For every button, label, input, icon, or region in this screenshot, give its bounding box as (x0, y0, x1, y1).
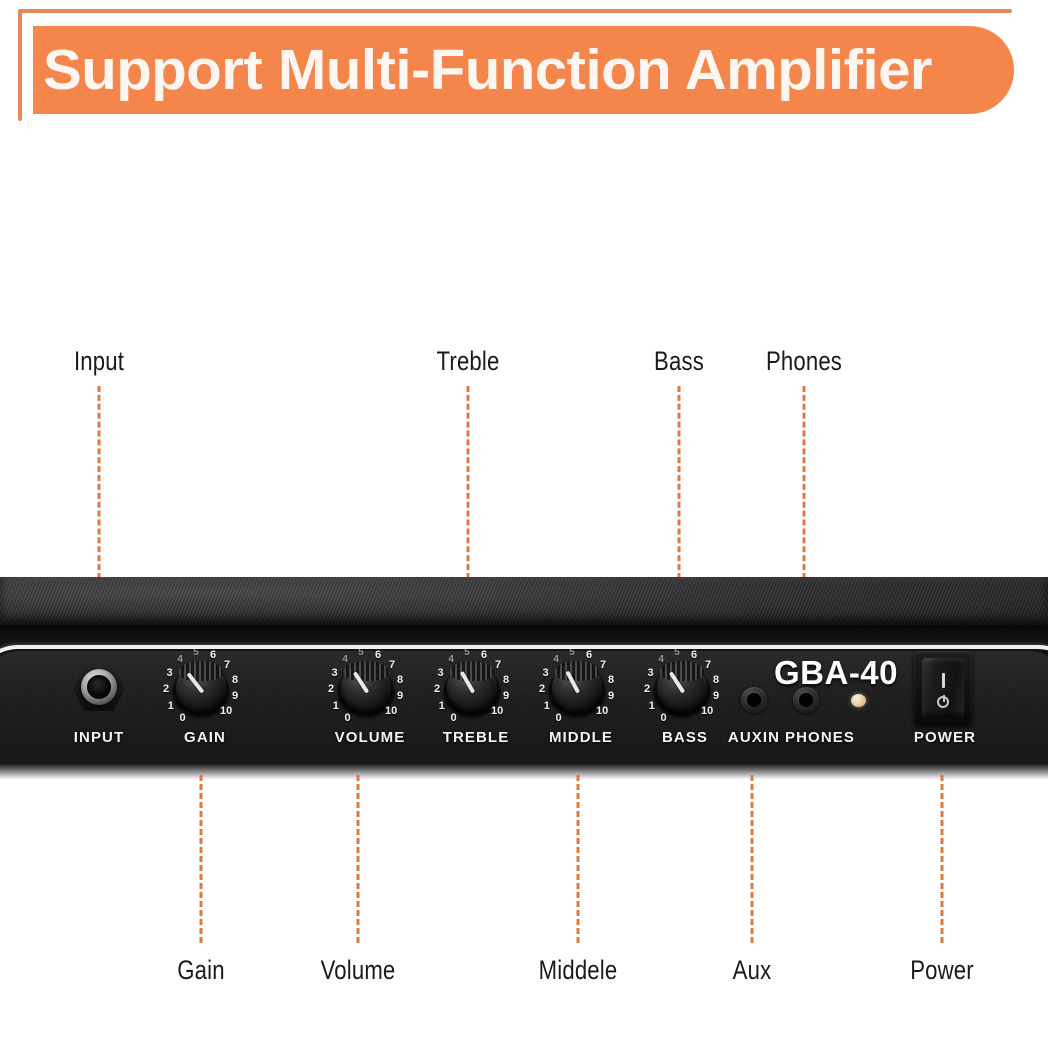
amplifier-unit: 0123456789100123456789100123456789100123… (0, 577, 1048, 781)
knob-tick-10: 10 (491, 706, 503, 717)
knob-tick-4: 4 (342, 655, 348, 665)
knob-tick-2: 2 (328, 684, 334, 695)
callout-bottom-line-middele (577, 775, 580, 943)
knob-tick-10: 10 (596, 706, 608, 717)
knob-tick-10: 10 (220, 706, 232, 717)
knob-volume[interactable]: 012345678910 (320, 657, 412, 735)
knob-tick-5: 5 (358, 648, 364, 658)
power-led-indicator (851, 694, 866, 707)
callout-bottom-label-aux: Aux (733, 955, 772, 986)
knob-tick-4: 4 (448, 655, 454, 665)
knob-tick-4: 4 (658, 655, 664, 665)
knob-tick-1: 1 (439, 701, 445, 712)
knob-tick-9: 9 (713, 691, 719, 702)
knob-tick-8: 8 (397, 675, 403, 686)
knob-tick-2: 2 (434, 684, 440, 695)
knob-tick-9: 9 (608, 691, 614, 702)
knob-treble[interactable]: 012345678910 (426, 657, 518, 735)
knob-tick-5: 5 (674, 648, 680, 658)
knob-tick-6: 6 (691, 650, 697, 661)
knob-tick-4: 4 (177, 655, 183, 665)
knob-tick-1: 1 (168, 701, 174, 712)
knob-tick-3: 3 (648, 668, 654, 679)
knob-ridge (555, 661, 599, 681)
knob-tick-3: 3 (332, 668, 338, 679)
knob-tick-0: 0 (660, 713, 666, 724)
knob-tick-9: 9 (232, 691, 238, 702)
knob-tick-9: 9 (503, 691, 509, 702)
knob-tick-8: 8 (232, 675, 238, 686)
knob-tick-5: 5 (464, 648, 470, 658)
knob-tick-6: 6 (481, 650, 487, 661)
callout-bottom-label-volume: Volume (321, 955, 396, 986)
panel-label-volume: VOLUME (335, 729, 406, 746)
knob-ridge (660, 661, 704, 681)
knob-tick-4: 4 (553, 655, 559, 665)
panel-label-middle: MIDDLE (549, 729, 613, 746)
knob-tick-3: 3 (438, 668, 444, 679)
callout-bottom-line-gain (200, 775, 203, 943)
panel-label-phones: PHONES (785, 729, 855, 746)
panel-label-input: INPUT (74, 729, 125, 746)
knob-tick-1: 1 (649, 701, 655, 712)
knob-gain[interactable]: 012345678910 (155, 657, 247, 735)
knob-tick-7: 7 (224, 660, 230, 671)
panel-label-auxin: AUXIN (728, 729, 780, 746)
control-panel: 0123456789100123456789100123456789100123… (0, 639, 1048, 763)
knob-tick-7: 7 (705, 660, 711, 671)
callout-top-label-bass: Bass (654, 346, 704, 377)
callout-top-label-phones: Phones (766, 346, 842, 377)
knob-tick-2: 2 (163, 684, 169, 695)
knob-tick-5: 5 (193, 648, 199, 658)
callout-top-label-treble: Treble (437, 346, 500, 377)
knob-tick-0: 0 (179, 713, 185, 724)
panel-label-treble: TREBLE (443, 729, 510, 746)
callout-bottom-label-gain: Gain (177, 955, 224, 986)
knob-tick-10: 10 (701, 706, 713, 717)
page-title: Support Multi-Function Amplifier (43, 42, 932, 99)
knob-tick-3: 3 (543, 668, 549, 679)
infographic-canvas: Support Multi-Function Amplifier InputTr… (0, 0, 1048, 1048)
power-switch[interactable] (914, 651, 972, 725)
power-on-icon (942, 673, 945, 688)
input-jack-hole (87, 675, 111, 699)
auxin-jack-hole (747, 693, 761, 707)
knob-ridge (179, 661, 223, 681)
panel-label-power: POWER (914, 729, 976, 746)
knob-tick-6: 6 (586, 650, 592, 661)
cabinet-shadow (0, 625, 1048, 639)
panel-label-bass: BASS (662, 729, 708, 746)
banner-rule-top (18, 9, 1012, 13)
knob-tick-8: 8 (608, 675, 614, 686)
knob-tick-0: 0 (555, 713, 561, 724)
knob-tick-0: 0 (450, 713, 456, 724)
input-jack[interactable] (71, 661, 127, 717)
cabinet-tolex-top (0, 577, 1048, 625)
model-badge: GBA-40 (774, 654, 898, 692)
knob-tick-3: 3 (167, 668, 173, 679)
callout-bottom-line-volume (357, 775, 360, 943)
knob-tick-8: 8 (503, 675, 509, 686)
knob-tick-6: 6 (210, 650, 216, 661)
knob-tick-5: 5 (569, 648, 575, 658)
callout-bottom-label-middele: Middele (539, 955, 618, 986)
knob-tick-7: 7 (495, 660, 501, 671)
knob-ridge (450, 661, 494, 681)
knob-ridge (344, 661, 388, 681)
callout-top-label-input: Input (74, 346, 124, 377)
banner-body: Support Multi-Function Amplifier (33, 26, 1014, 114)
knob-tick-6: 6 (375, 650, 381, 661)
callout-bottom-line-power (941, 775, 944, 943)
knob-tick-7: 7 (600, 660, 606, 671)
knob-tick-8: 8 (713, 675, 719, 686)
knob-tick-1: 1 (544, 701, 550, 712)
power-switch-rocker[interactable] (922, 658, 964, 718)
knob-tick-2: 2 (644, 684, 650, 695)
phones-jack-hole (799, 693, 813, 707)
auxin-jack[interactable] (741, 687, 767, 713)
callout-bottom-label-power: Power (910, 955, 974, 986)
knob-tick-9: 9 (397, 691, 403, 702)
knob-tick-1: 1 (333, 701, 339, 712)
knob-bass[interactable]: 012345678910 (636, 657, 728, 735)
panel-label-gain: GAIN (184, 729, 226, 746)
power-off-icon (937, 696, 949, 708)
panel-bottom-shadow (0, 763, 1048, 781)
knob-tick-2: 2 (539, 684, 545, 695)
knob-tick-7: 7 (389, 660, 395, 671)
knob-tick-10: 10 (385, 706, 397, 717)
knob-tick-0: 0 (344, 713, 350, 724)
knob-middle[interactable]: 012345678910 (531, 657, 623, 735)
banner-rule-left (18, 9, 22, 121)
header-banner: Support Multi-Function Amplifier (0, 0, 1048, 140)
callout-bottom-line-aux (751, 775, 754, 943)
